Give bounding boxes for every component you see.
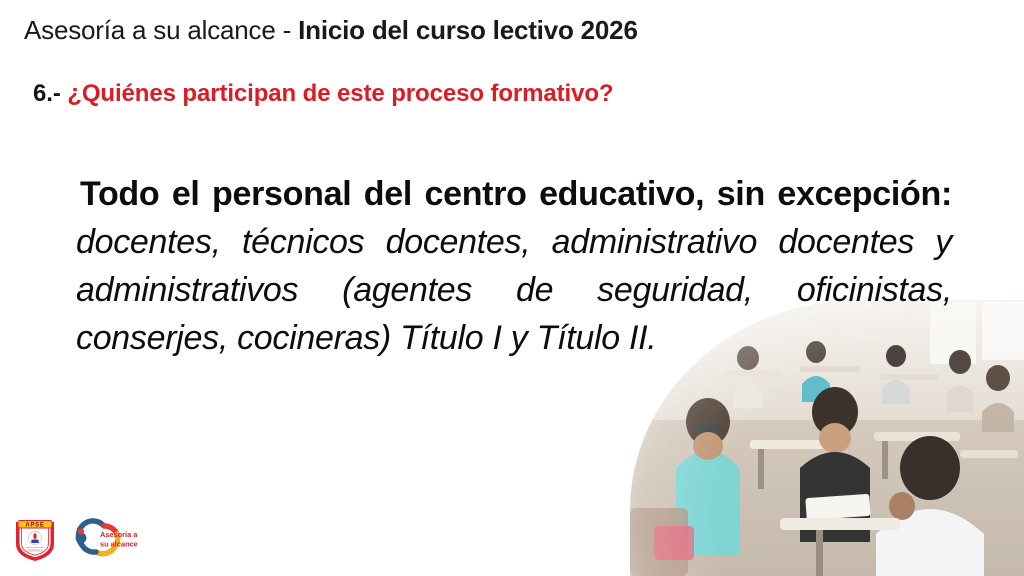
asesoria-a-su-alcance-logo: Asesoría a su alcance	[70, 515, 142, 561]
header-title: Inicio del curso lectivo 2026	[298, 15, 638, 45]
apse-shield-logo: APSE COSTA RICA	[12, 514, 58, 562]
asesoria-logo-line1: Asesoría a	[100, 530, 138, 539]
question-text: ¿Quiénes participan de este proceso form…	[67, 80, 613, 107]
body-lead-bold: Todo el personal del centro educativo, s…	[80, 175, 952, 213]
body-italic-tail: Título I y Título II.	[400, 319, 656, 357]
question-heading: 6.- ¿Quiénes participan de este proceso …	[33, 79, 614, 109]
slide-header: Asesoría a su alcance - Inicio del curso…	[24, 14, 638, 46]
question-number: 6.-	[33, 80, 67, 107]
slide-canvas: Asesoría a su alcance - Inicio del curso…	[0, 0, 1024, 576]
header-separator: -	[276, 15, 299, 45]
svg-text:COSTA RICA: COSTA RICA	[27, 549, 43, 553]
svg-text:APSE: APSE	[25, 522, 44, 528]
asesoria-logo-line2: su alcance	[100, 540, 138, 549]
logo-bar: APSE COSTA RICA Asesoría a	[12, 514, 142, 562]
body-paragraph: Todo el personal del centro educativo, s…	[76, 170, 952, 362]
header-brand: Asesoría a su alcance	[24, 15, 276, 45]
